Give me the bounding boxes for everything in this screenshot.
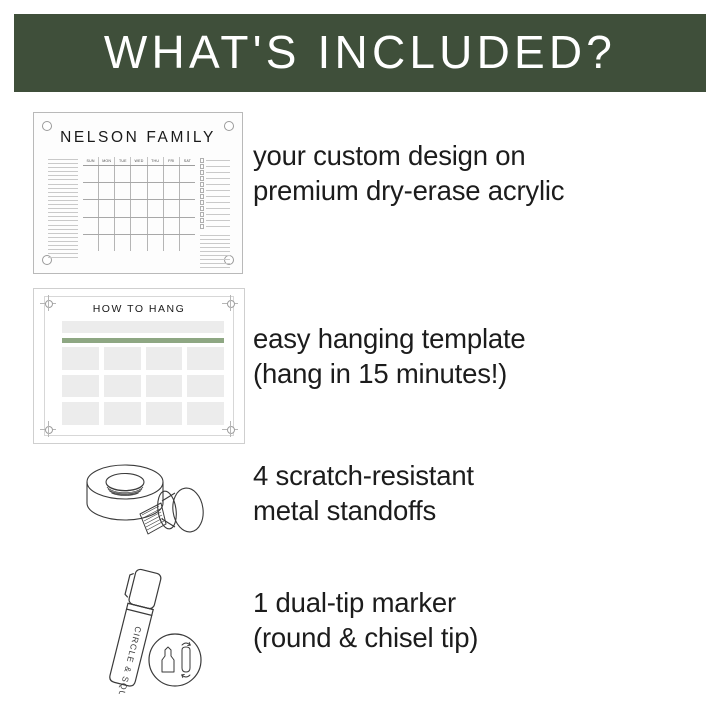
checkbox-icon (200, 188, 204, 192)
page-title: WHAT'S INCLUDED? (104, 29, 616, 78)
drill-dot-icon (45, 426, 53, 434)
hanging-template-grid-row (62, 402, 224, 425)
calendar-day-cell (114, 235, 130, 251)
rule-line (48, 200, 78, 201)
checkbox-icon (200, 176, 204, 180)
hanging-template-accent-bar (62, 338, 224, 343)
feature-description-marker: 1 dual-tip marker (round & chisel tip) (253, 585, 478, 655)
calendar-day-cell (179, 235, 195, 251)
checkbox-icon (200, 206, 204, 210)
hanging-template-grid-row (62, 375, 224, 398)
rule-line (48, 196, 78, 197)
header-banner: WHAT'S INCLUDED? (14, 14, 706, 92)
checklist-row (200, 207, 230, 210)
checklist-row (200, 195, 230, 198)
rule-line (200, 263, 230, 264)
rule-line (206, 202, 230, 203)
rule-line (48, 179, 78, 180)
hanging-template-grid-cell (187, 402, 224, 425)
crosshair-mark-icon (40, 421, 56, 437)
crosshair-mark-icon (222, 421, 238, 437)
rule-line (200, 259, 230, 260)
drill-dot-icon (227, 426, 235, 434)
rule-line (206, 178, 230, 179)
calendar-day-cell (114, 200, 130, 216)
rule-line (48, 184, 78, 185)
rule-line (48, 241, 78, 242)
calendar-day-cell (98, 183, 114, 199)
feature-line-1: 1 dual-tip marker (253, 587, 456, 618)
hanging-template-grid-cell (62, 375, 99, 398)
feature-line-2: (round & chisel tip) (253, 622, 478, 653)
calendar-day-cell (114, 166, 130, 182)
checklist-row (200, 219, 230, 222)
calendar-week-row (83, 183, 195, 200)
checklist-row (200, 189, 230, 192)
rule-line (206, 196, 230, 197)
marker-barrel-text: CIRCLE & SQUARE (111, 625, 143, 694)
rule-line (48, 220, 78, 221)
checkbox-icon (200, 170, 204, 174)
calendar-day-cell (163, 183, 179, 199)
rule-line (48, 229, 78, 230)
hanging-template-title: HOW TO HANG (34, 303, 244, 315)
rule-line (48, 208, 78, 209)
checklist-row (200, 177, 230, 180)
calendar-todo-lines (48, 157, 78, 258)
checklist-row (200, 183, 230, 186)
rule-line (48, 253, 78, 254)
feature-line-1: easy hanging template (253, 323, 526, 354)
calendar-day-cell (98, 200, 114, 216)
feature-line-1: 4 scratch-resistant (253, 460, 474, 491)
calendar-month-grid: SUN MON TUE WED THU FRI SAT (83, 157, 195, 251)
calendar-day-header-row: SUN MON TUE WED THU FRI SAT (83, 157, 195, 165)
calendar-day-cell (147, 200, 163, 216)
calendar-day-cell (130, 218, 146, 234)
rule-line (48, 159, 78, 160)
calendar-day-cell (163, 166, 179, 182)
rule-line (200, 251, 230, 252)
rule-line (200, 255, 230, 256)
calendar-todo-column: to-do (48, 157, 78, 251)
calendar-dont-forget-lines (200, 233, 230, 268)
calendar-day-cell (98, 166, 114, 182)
standoff-svg (68, 456, 218, 546)
checkbox-icon (200, 218, 204, 222)
rule-line (200, 235, 230, 236)
calendar-day-cell (179, 200, 195, 216)
checkbox-icon (200, 164, 204, 168)
rule-line (48, 204, 78, 205)
rule-line (206, 226, 230, 227)
calendar-day-cell (83, 183, 98, 199)
hanging-template-grid-row (62, 347, 224, 370)
calendar-day-header: SAT (179, 157, 195, 165)
feature-line-2: (hang in 15 minutes!) (253, 358, 507, 389)
rule-line (48, 216, 78, 217)
calendar-week-row (83, 166, 195, 183)
checkbox-icon (200, 182, 204, 186)
hanging-template-top-band (62, 321, 224, 333)
calendar-day-cell (130, 200, 146, 216)
rule-line (200, 247, 230, 248)
calendar-day-cell (130, 235, 146, 251)
calendar-day-cell (147, 166, 163, 182)
rule-line (48, 245, 78, 246)
rule-line (200, 239, 230, 240)
calendar-day-cell (179, 218, 195, 234)
rule-line (206, 160, 230, 161)
feature-line-2: premium dry-erase acrylic (253, 175, 564, 206)
rule-line (206, 220, 230, 221)
calendar-week-rows (83, 165, 195, 251)
hanging-template-grid-cell (104, 402, 141, 425)
rule-line (206, 166, 230, 167)
checkbox-icon (200, 158, 204, 162)
hanging-template-grid-cell (62, 347, 99, 370)
rule-line (48, 188, 78, 189)
calendar-day-cell (114, 183, 130, 199)
calendar-week-row (83, 200, 195, 217)
calendar-body: to-do (48, 157, 230, 251)
marker-svg: CIRCLE & SQUARE (76, 564, 216, 694)
calendar-day-cell (179, 183, 195, 199)
checkbox-icon (200, 212, 204, 216)
checklist-row (200, 165, 230, 168)
checkbox-icon (200, 224, 204, 228)
calendar-day-cell (163, 218, 179, 234)
calendar-day-header: MON (98, 157, 114, 165)
hanging-template-grid-cell (104, 375, 141, 398)
calendar-day-header: WED (130, 157, 146, 165)
rule-line (48, 175, 78, 176)
calendar-day-cell (98, 235, 114, 251)
rule-line (206, 172, 230, 173)
rule-line (206, 214, 230, 215)
feature-description-template: easy hanging template (hang in 15 minute… (253, 321, 526, 391)
rule-line (48, 257, 78, 258)
calendar-day-header: SUN (83, 157, 98, 165)
hanging-template-grid-cell (146, 347, 183, 370)
feature-line-1: your custom design on (253, 140, 525, 171)
rule-line (48, 167, 78, 168)
hanging-template-grid-cell (104, 347, 141, 370)
calendar-day-header: FRI (163, 157, 179, 165)
hanging-template-illustration: HOW TO HANG (33, 288, 245, 444)
hanging-template-grid-cell (187, 347, 224, 370)
calendar-day-cell (83, 218, 98, 234)
rule-line (206, 184, 230, 185)
calendar-day-cell (114, 218, 130, 234)
calendar-week-row (83, 218, 195, 235)
rule-line (48, 163, 78, 164)
rule-line (200, 243, 230, 244)
rule-line (200, 267, 230, 268)
rule-line (48, 225, 78, 226)
hanging-template-grid-cell (62, 402, 99, 425)
feature-line-2: metal standoffs (253, 495, 436, 526)
calendar-priorities-column: priorities don't forget (200, 157, 230, 251)
feature-description-acrylic: your custom design on premium dry-erase … (253, 138, 564, 208)
calendar-priorities-checklist (200, 157, 230, 228)
calendar-day-header: TUE (114, 157, 130, 165)
rule-line (48, 171, 78, 172)
checklist-row (200, 159, 230, 162)
checklist-row (200, 201, 230, 204)
acrylic-calendar-illustration: NELSON FAMILY to-do (33, 112, 243, 274)
metal-standoff-illustration (68, 456, 218, 546)
calendar-day-cell (83, 235, 98, 251)
calendar-day-cell (179, 166, 195, 182)
calendar-day-cell (147, 218, 163, 234)
hanging-template-grid (62, 347, 224, 425)
calendar-day-header: THU (147, 157, 163, 165)
calendar-day-cell (147, 183, 163, 199)
calendar-day-cell (130, 183, 146, 199)
checklist-row (200, 213, 230, 216)
checklist-row (200, 225, 230, 228)
calendar-day-cell (98, 218, 114, 234)
checklist-row (200, 171, 230, 174)
feature-description-standoffs: 4 scratch-resistant metal standoffs (253, 458, 474, 528)
rule-line (48, 249, 78, 250)
calendar-day-cell (83, 200, 98, 216)
rule-line (206, 208, 230, 209)
dual-tip-marker-illustration: CIRCLE & SQUARE (76, 564, 216, 694)
rule-line (206, 190, 230, 191)
checkbox-icon (200, 194, 204, 198)
calendar-day-cell (130, 166, 146, 182)
rule-line (48, 237, 78, 238)
calendar-day-cell (83, 166, 98, 182)
checkbox-icon (200, 200, 204, 204)
hanging-template-grid-cell (187, 375, 224, 398)
rule-line (48, 212, 78, 213)
rule-line (48, 192, 78, 193)
calendar-day-cell (147, 235, 163, 251)
calendar-board-title: NELSON FAMILY (34, 129, 242, 147)
calendar-day-cell (163, 235, 179, 251)
rule-line (48, 233, 78, 234)
hanging-template-grid-cell (146, 402, 183, 425)
hanging-template-grid-cell (146, 375, 183, 398)
calendar-day-cell (163, 200, 179, 216)
calendar-week-row (83, 235, 195, 251)
